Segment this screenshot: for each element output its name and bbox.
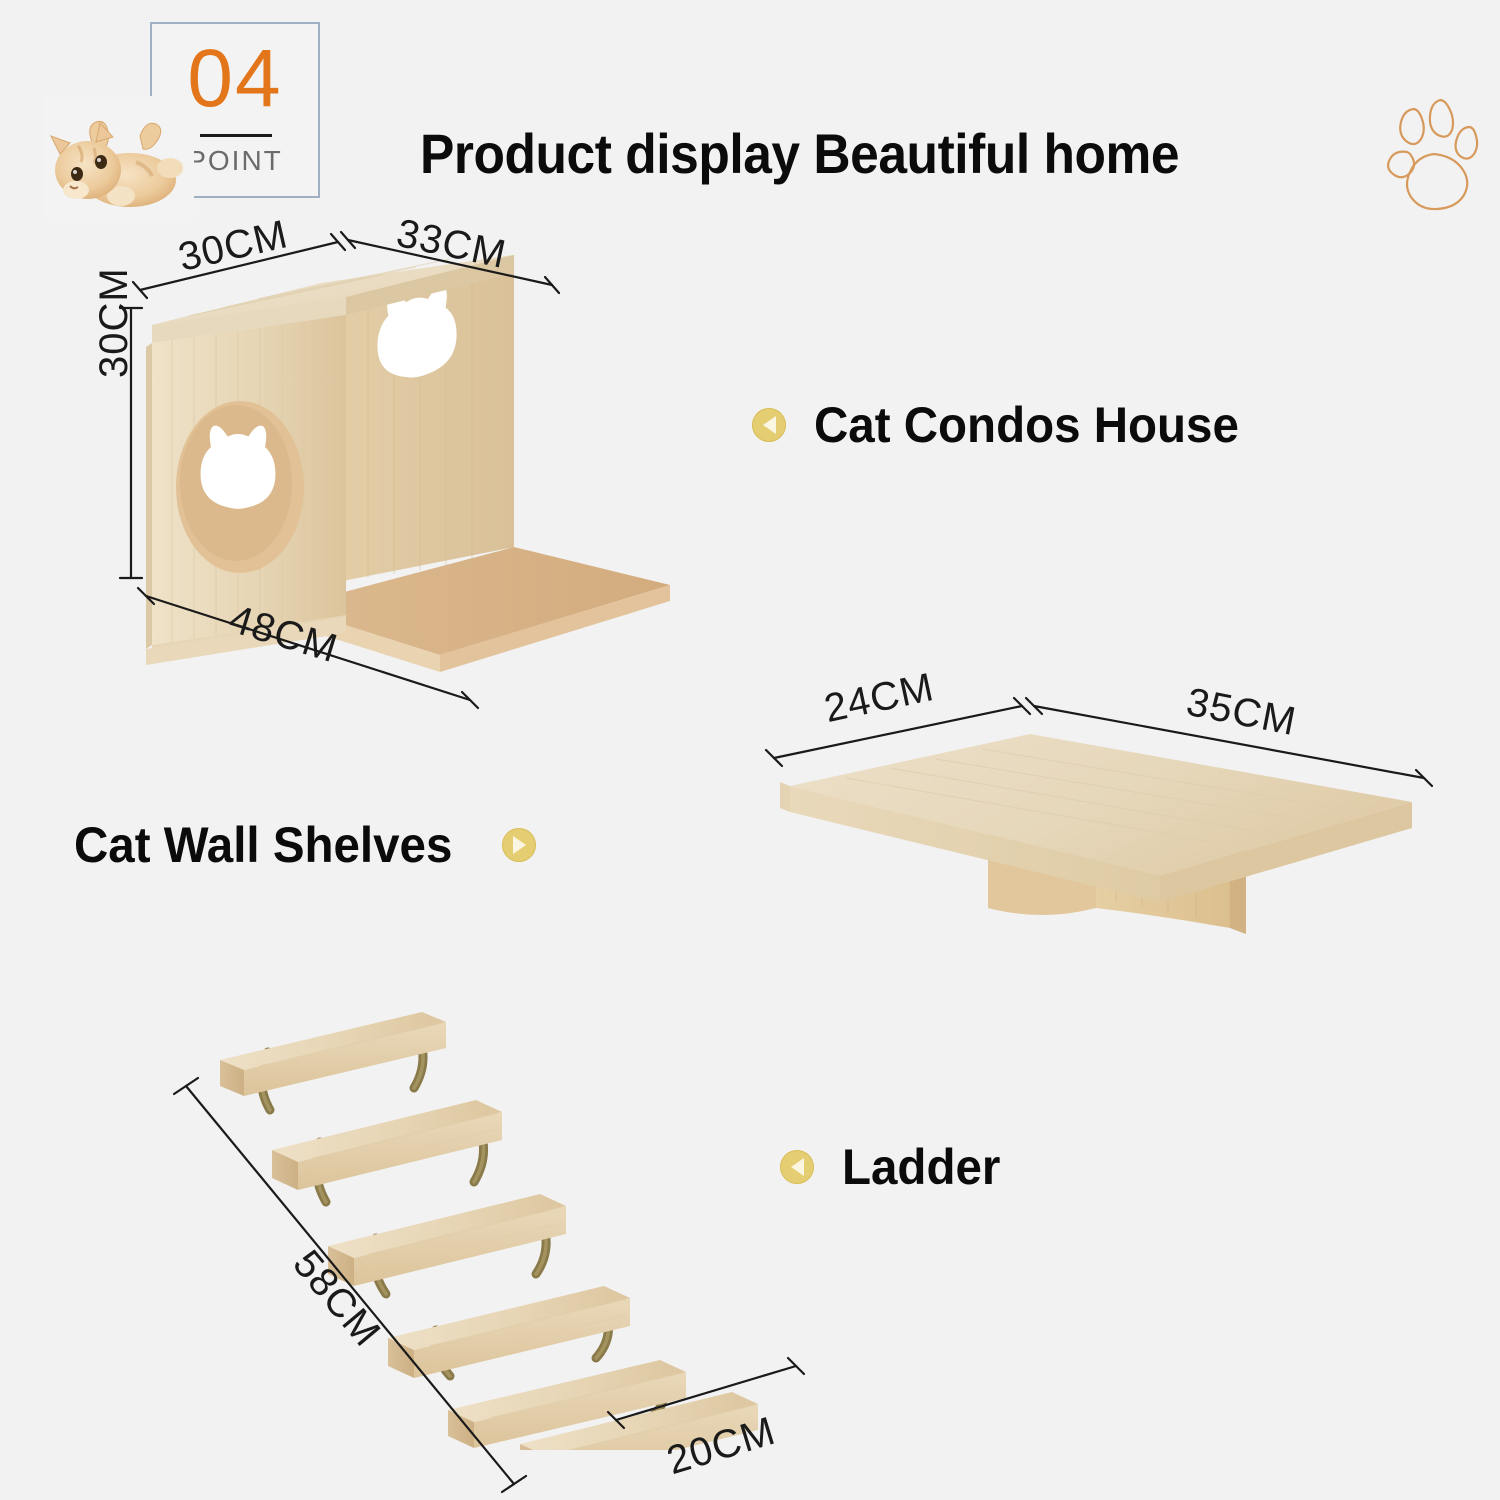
ladder-slat: [328, 1194, 566, 1286]
cat-wall-shelf-illustration: [760, 690, 1440, 960]
ladder-slat: [388, 1286, 630, 1378]
dim-condo-height: 30CM: [92, 267, 137, 378]
cat-condos-house-illustration: [110, 255, 690, 715]
triangle-left-badge-icon: [752, 408, 786, 442]
section-label-ladder: Ladder: [780, 1140, 1009, 1194]
ladder-illustration: [190, 1000, 830, 1450]
section-label-text: Cat Condos House: [814, 398, 1239, 452]
paw-print-icon: [1374, 96, 1490, 214]
section-label-text: Ladder: [842, 1140, 1000, 1194]
badge-divider: [200, 134, 272, 137]
section-label-text: Cat Wall Shelves: [74, 818, 452, 872]
product-display-page: 04 POINT: [0, 0, 1500, 1500]
section-label-cat-condos-house: Cat Condos House: [752, 398, 1261, 452]
page-title: Product display Beautiful home: [420, 124, 1179, 184]
triangle-left-badge-icon: [780, 1150, 814, 1184]
ladder-slat: [272, 1100, 502, 1190]
triangle-right-badge-icon: [502, 828, 536, 862]
kitten-photo: [44, 96, 194, 218]
section-label-cat-wall-shelves: Cat Wall Shelves: [74, 818, 536, 872]
